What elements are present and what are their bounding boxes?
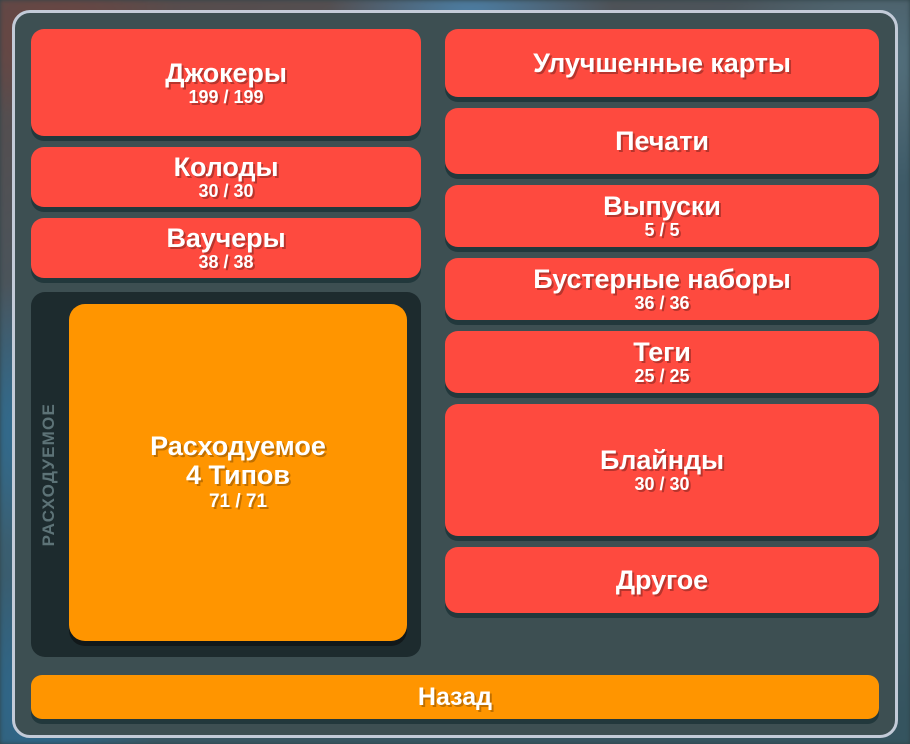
category-title: Выпуски [603, 192, 721, 220]
category-count: 199 / 199 [188, 88, 263, 107]
category-title: Блайнды [600, 446, 724, 474]
category-title: Ваучеры [166, 224, 285, 252]
category-count: 30 / 30 [198, 182, 253, 201]
category-button-editions[interactable]: Выпуски 5 / 5 [445, 185, 879, 247]
category-button-other[interactable]: Другое [445, 547, 879, 613]
left-column: Джокеры 199 / 199 Колоды 30 / 30 Ваучеры… [31, 29, 421, 657]
category-count: 5 / 5 [644, 221, 679, 240]
category-button-tags[interactable]: Теги 25 / 25 [445, 331, 879, 393]
category-button-consumables[interactable]: Расходуемое 4 Типов 71 / 71 [69, 304, 407, 641]
category-title: Улучшенные карты [533, 49, 791, 77]
category-button-enhanced-cards[interactable]: Улучшенные карты [445, 29, 879, 97]
consumables-side-label: РАСХОДУЕМОЕ [39, 403, 69, 546]
consumables-title-line2: 4 Типов [186, 461, 290, 490]
category-button-booster-packs[interactable]: Бустерные наборы 36 / 36 [445, 258, 879, 320]
category-title: Другое [616, 566, 708, 594]
category-count: 36 / 36 [634, 294, 689, 313]
category-title: Печати [615, 127, 709, 155]
consumables-section: РАСХОДУЕМОЕ Расходуемое 4 Типов 71 / 71 [31, 292, 421, 657]
category-button-jokers[interactable]: Джокеры 199 / 199 [31, 29, 421, 136]
category-button-vouchers[interactable]: Ваучеры 38 / 38 [31, 218, 421, 278]
category-count: 38 / 38 [198, 253, 253, 272]
category-button-decks[interactable]: Колоды 30 / 30 [31, 147, 421, 207]
category-title: Теги [633, 338, 691, 366]
right-column: Улучшенные карты Печати Выпуски 5 / 5 Бу… [445, 29, 879, 657]
category-count: 25 / 25 [634, 367, 689, 386]
category-title: Колоды [174, 153, 279, 181]
category-button-blinds[interactable]: Блайнды 30 / 30 [445, 404, 879, 536]
category-title: Джокеры [165, 59, 287, 87]
consumables-count: 71 / 71 [209, 491, 267, 513]
category-count: 30 / 30 [634, 475, 689, 494]
category-title: Бустерные наборы [533, 265, 790, 293]
back-button[interactable]: Назад [31, 675, 879, 719]
collection-panel: Джокеры 199 / 199 Колоды 30 / 30 Ваучеры… [12, 10, 898, 738]
collection-columns: Джокеры 199 / 199 Колоды 30 / 30 Ваучеры… [31, 29, 879, 657]
category-button-seals[interactable]: Печати [445, 108, 879, 174]
consumables-title-line1: Расходуемое [150, 432, 326, 461]
